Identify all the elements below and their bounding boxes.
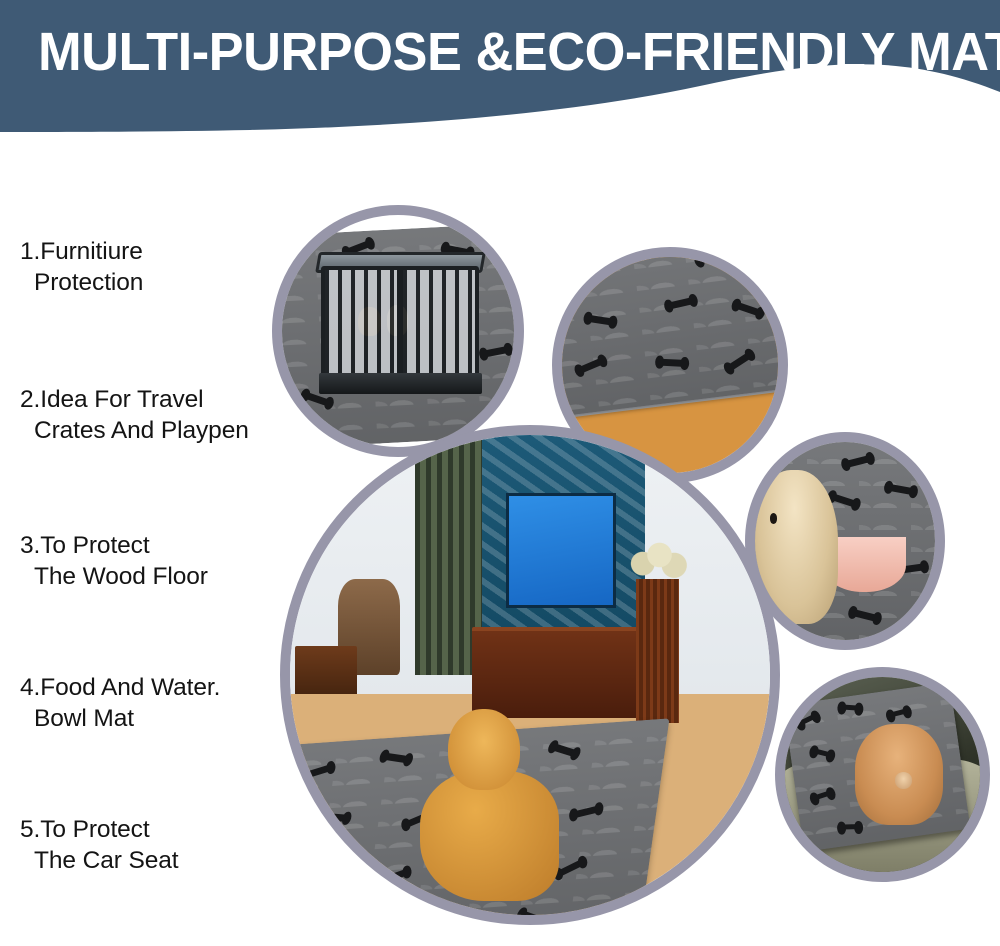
scene-crate — [282, 215, 514, 447]
bone-print — [428, 912, 455, 925]
golden-retriever-body — [420, 771, 559, 901]
tv-cabinet — [472, 627, 645, 718]
photo-bubble-car-seat — [775, 667, 990, 882]
mastiff-puppy — [855, 724, 943, 825]
scene-car-seat — [785, 677, 980, 872]
photo-bubble-living-room — [280, 425, 780, 925]
benefit-text-3-line1: To Protect — [40, 532, 149, 559]
bone-print — [577, 358, 604, 375]
bone-print — [799, 713, 817, 725]
bone-print — [520, 910, 546, 925]
bone-print — [667, 297, 694, 310]
benefit-number-1: 1. — [20, 238, 40, 265]
benefit-item-2: 2.Idea For Travel Crates And Playpen — [20, 384, 282, 446]
bone-print — [888, 483, 915, 494]
benefit-text-5-line2: The Car Seat — [20, 845, 282, 876]
golden-retriever-head — [448, 709, 520, 791]
television — [506, 493, 616, 608]
bone-print — [587, 315, 614, 326]
crate-base — [319, 373, 481, 394]
benefit-item-1: 1.Furnitiure Protection — [20, 236, 282, 298]
bone-print — [551, 743, 577, 757]
benefit-item-5: 5.To Protect The Car Seat — [20, 814, 282, 876]
crate-divider — [397, 270, 403, 373]
bone-print — [321, 812, 348, 821]
benefit-number-2: 2. — [20, 386, 40, 413]
page-header: MULTI-PURPOSE &ECO-FRIENDLY MAT — [0, 0, 1000, 132]
benefit-text-4-line1: Food And Water. — [40, 674, 220, 701]
bone-print — [304, 392, 331, 407]
side-table — [295, 646, 357, 699]
benefit-number-3: 3. — [20, 532, 40, 559]
bone-print — [845, 455, 872, 468]
bone-print — [556, 273, 583, 288]
benefit-item-3: 3.To Protect The Wood Floor — [20, 530, 282, 592]
bone-print — [698, 247, 724, 265]
bone-print — [735, 302, 762, 317]
benefit-text-1-line1: Furnitiure — [40, 238, 142, 265]
decorative-column — [636, 579, 679, 723]
bone-print — [889, 708, 908, 717]
bone-print — [381, 868, 408, 884]
benefit-text-4-line2: Bowl Mat — [20, 703, 282, 734]
bone-print — [813, 790, 832, 800]
benefit-text-5-line1: To Protect — [40, 816, 149, 843]
benefit-text-3-line2: The Wood Floor — [20, 561, 282, 592]
bone-print — [726, 352, 752, 372]
bone-print — [572, 805, 598, 818]
photo-bubble-crate — [272, 205, 524, 457]
scene-living-room — [290, 435, 770, 915]
bone-print — [556, 859, 583, 878]
crate-body — [321, 266, 479, 377]
benefit-text-1-line2: Protection — [20, 267, 282, 298]
page-title: MULTI-PURPOSE &ECO-FRIENDLY MAT — [38, 21, 950, 83]
bone-print — [329, 917, 356, 925]
bone-print — [813, 748, 832, 757]
bone-print — [305, 764, 332, 779]
bone-print — [852, 609, 879, 622]
benefit-text-2-line2: Crates And Playpen — [20, 415, 282, 446]
photo-collage — [255, 180, 1000, 946]
bone-print — [482, 346, 509, 358]
bone-print — [659, 359, 685, 367]
bone-print — [841, 704, 859, 710]
dog-nose — [770, 513, 778, 524]
benefit-number-4: 4. — [20, 674, 40, 701]
bone-print — [382, 752, 409, 763]
puppy-muzzle — [895, 772, 913, 788]
bone-print — [298, 867, 325, 880]
bone-print — [630, 247, 656, 253]
benefit-number-5: 5. — [20, 816, 40, 843]
scene-food-bowl — [755, 442, 935, 640]
bone-print — [830, 494, 857, 509]
benefit-text-2-line1: Idea For Travel — [40, 386, 203, 413]
photo-bubble-food-bowl — [745, 432, 945, 650]
benefit-item-4: 4.Food And Water. Bowl Mat — [20, 672, 282, 734]
bone-print — [841, 824, 859, 830]
